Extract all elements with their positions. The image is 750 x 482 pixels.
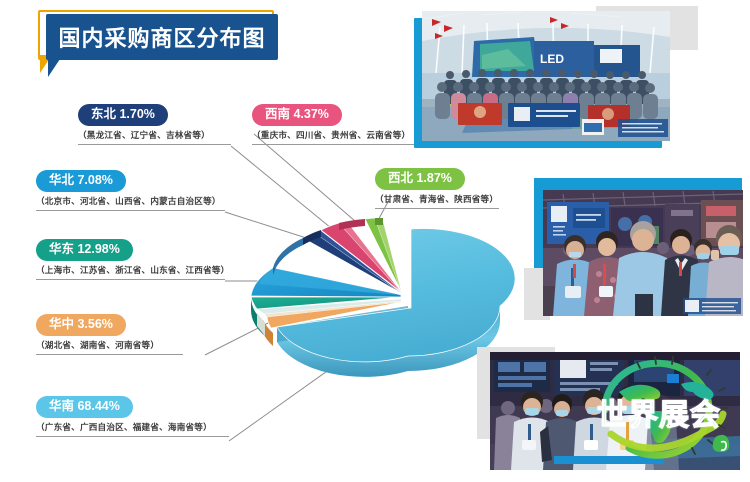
callout-huabei-pill: 华北 7.08% xyxy=(36,170,126,192)
photo-booth-visit[interactable] xyxy=(543,190,743,316)
photo-booth-visit-image xyxy=(543,190,743,316)
expo-logo-text: 世界展会 xyxy=(597,390,721,434)
callout-xinan[interactable]: 西南 4.37% （重庆市、四川省、贵州省、云南省等） xyxy=(252,104,418,145)
callout-huanan-underline xyxy=(36,436,229,437)
callout-huazhong[interactable]: 华中 3.56% （湖北省、湖南省、河南省等） xyxy=(36,314,183,355)
callout-dongbei-underline xyxy=(78,144,231,145)
callout-xinan-provinces: （重庆市、四川省、贵州省、云南省等） xyxy=(252,129,418,141)
callout-huadong[interactable]: 华东 12.98% （上海市、江苏省、浙江省、山东省、江西省等） xyxy=(36,239,229,280)
callout-xibei-pill: 西北 1.87% xyxy=(375,168,465,190)
callout-dongbei-pill: 东北 1.70% xyxy=(78,104,168,126)
callout-huadong-underline xyxy=(36,279,225,280)
callout-xibei[interactable]: 西北 1.87% （甘肃省、青海省、陕西省等） xyxy=(375,168,499,209)
callout-xinan-underline xyxy=(252,144,418,145)
callout-huabei-underline xyxy=(36,210,225,211)
callout-huanan[interactable]: 华南 68.44% （广东省、广西自治区、福建省、海南省等） xyxy=(36,396,229,437)
infographic-canvas: 国内采购商区分布图 东北 1.70% （黑龙江省、辽宁省、吉林省等） 西南 xyxy=(0,0,750,482)
callout-xinan-pill: 西南 4.37% xyxy=(252,104,342,126)
callout-huabei[interactable]: 华北 7.08% （北京市、河北省、山西省、内蒙古自治区等） xyxy=(36,170,225,211)
callout-huazhong-underline xyxy=(36,354,183,355)
callout-huanan-provinces: （广东省、广西自治区、福建省、海南省等） xyxy=(36,421,229,433)
callout-huazhong-pill: 华中 3.56% xyxy=(36,314,126,336)
callout-dongbei-provinces: （黑龙江省、辽宁省、吉林省等） xyxy=(78,129,231,141)
expo-logo: 世界展会 xyxy=(585,350,745,465)
svg-text:LED: LED xyxy=(540,52,564,66)
callout-dongbei[interactable]: 东北 1.70% （黑龙江省、辽宁省、吉林省等） xyxy=(78,104,231,145)
photo-group-image: LED xyxy=(422,11,670,141)
callout-xibei-provinces: （甘肃省、青海省、陕西省等） xyxy=(375,193,499,205)
callout-huadong-pill: 华东 12.98% xyxy=(36,239,133,261)
callout-huazhong-provinces: （湖北省、湖南省、河南省等） xyxy=(36,339,183,351)
photo-group[interactable]: LED xyxy=(422,11,670,141)
callout-huabei-provinces: （北京市、河北省、山西省、内蒙古自治区等） xyxy=(36,195,225,207)
callout-huanan-pill: 华南 68.44% xyxy=(36,396,133,418)
callout-huadong-provinces: （上海市、江苏省、浙江省、山东省、江西省等） xyxy=(36,264,229,276)
